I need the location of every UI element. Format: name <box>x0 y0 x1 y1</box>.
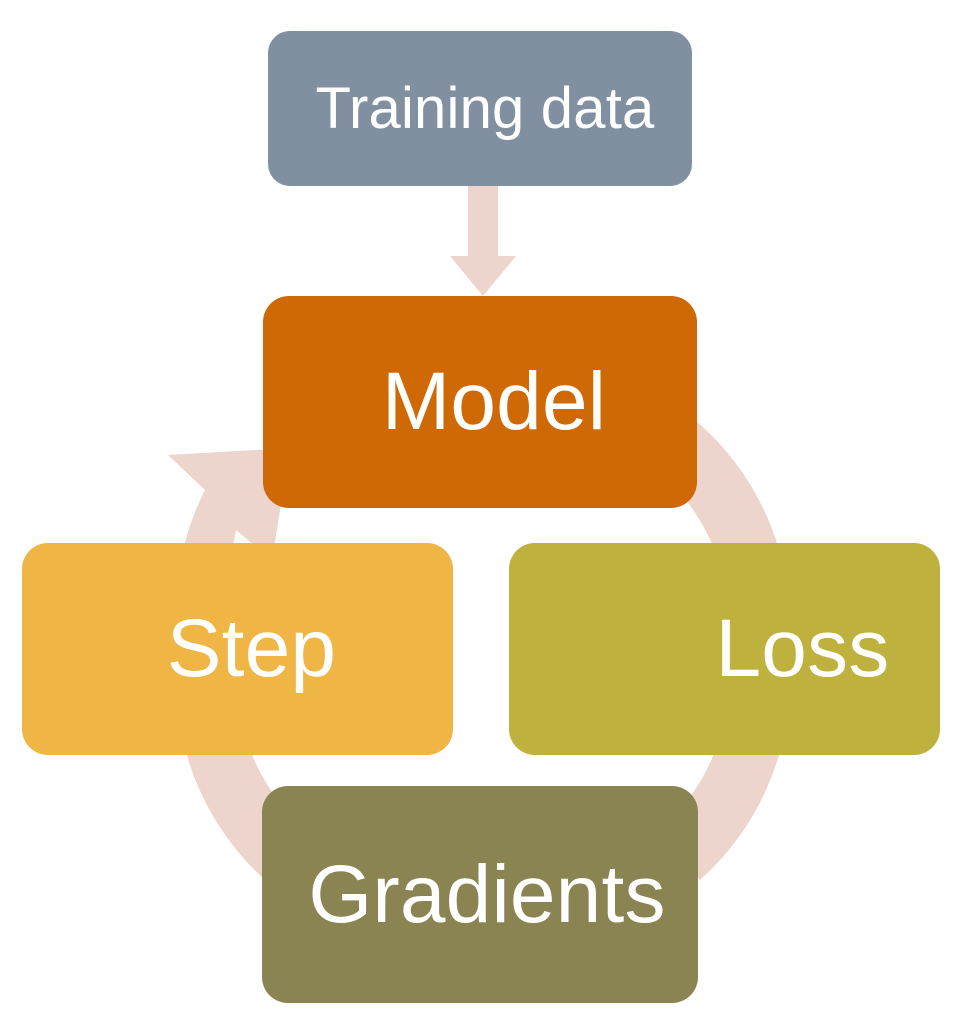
node-training-data-label: Training data <box>316 80 655 138</box>
node-training-data[interactable]: Training data <box>268 31 692 186</box>
node-gradients-label: Gradients <box>308 854 665 936</box>
diagram-canvas: Training data Model Step Loss Gradients <box>0 0 969 1028</box>
node-step-label: Step <box>167 608 337 690</box>
node-step[interactable]: Step <box>22 543 453 755</box>
node-gradients[interactable]: Gradients <box>262 786 698 1003</box>
feed-arrow-head <box>450 190 516 296</box>
node-model[interactable]: Model <box>263 296 697 508</box>
node-model-label: Model <box>382 361 606 443</box>
node-loss-label: Loss <box>715 608 889 690</box>
feed-arrow-training-to-model <box>450 186 516 296</box>
node-loss[interactable]: Loss <box>509 543 940 755</box>
